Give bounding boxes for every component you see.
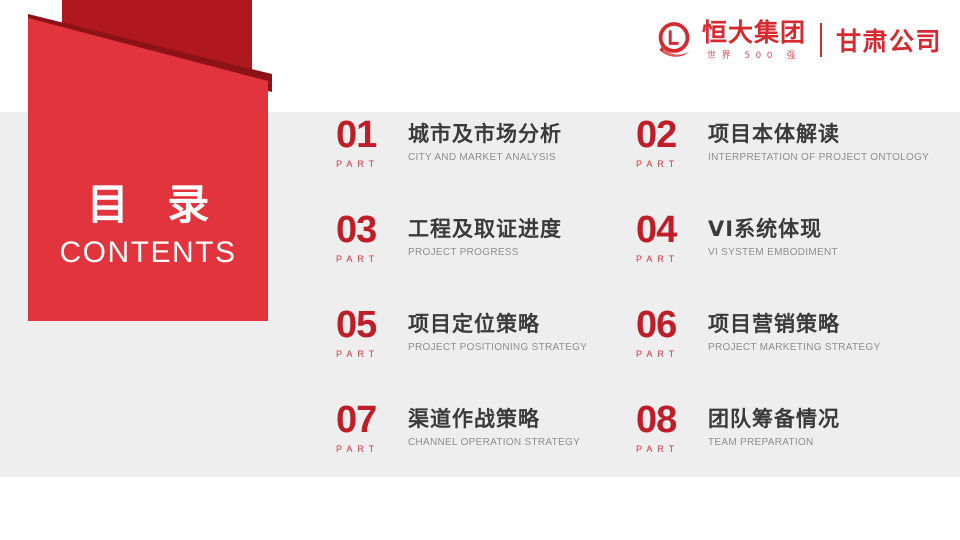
agenda-item-05[interactable]: 05 PART 项目定位策略 PROJECT POSITIONING STRAT… [336,310,636,405]
agenda-text-05: 项目定位策略 PROJECT POSITIONING STRATEGY [408,310,587,353]
agenda-text-07: 渠道作战策略 CHANNEL OPERATION STRATEGY [408,405,580,448]
branch-name-cn: 甘肃公司 [836,22,942,58]
agenda-number: 06 [636,306,708,344]
evergrande-q-logo-icon [653,19,695,61]
agenda-part-label: PART [636,444,708,454]
agenda-title-en: CITY AND MARKET ANALYSIS [408,152,562,163]
agenda-title-cn: 项目本体解读 [708,122,929,146]
agenda-part-label: PART [336,349,408,359]
agenda-text-06: 项目营销策略 PROJECT MARKETING STRATEGY [708,310,880,353]
agenda-item-07[interactable]: 07 PART 渠道作战策略 CHANNEL OPERATION STRATEG… [336,405,636,500]
agenda-title-cn: 项目营销策略 [708,312,880,336]
agenda-number: 02 [636,116,708,154]
agenda-index-08: 08 PART [636,401,708,454]
agenda-title-en: PROJECT PROGRESS [408,247,562,258]
agenda-part-label: PART [636,254,708,264]
agenda-item-06[interactable]: 06 PART 项目营销策略 PROJECT MARKETING STRATEG… [636,310,946,405]
agenda-index-06: 06 PART [636,306,708,359]
agenda-item-04[interactable]: 04 PART VI系统体现 VI SYSTEM EMBODIMENT [636,215,946,310]
slide-canvas: 目 录 CONTENTS 恒大集团 世界 500 强 甘肃公司 01 PART … [0,0,960,540]
logo-divider [820,23,822,57]
agenda-index-01: 01 PART [336,116,408,169]
agenda-title-en: INTERPRETATION OF PROJECT ONTOLOGY [708,152,929,163]
agenda-text-01: 城市及市场分析 CITY AND MARKET ANALYSIS [408,120,562,163]
agenda-number: 04 [636,211,708,249]
agenda-title-en: PROJECT MARKETING STRATEGY [708,342,880,353]
agenda-part-label: PART [636,349,708,359]
agenda-item-02[interactable]: 02 PART 项目本体解读 INTERPRETATION OF PROJECT… [636,120,946,215]
agenda-text-04: VI系统体现 VI SYSTEM EMBODIMENT [708,215,838,258]
agenda-title-cn: VI系统体现 [708,217,838,241]
agenda-item-01[interactable]: 01 PART 城市及市场分析 CITY AND MARKET ANALYSIS [336,120,636,215]
agenda-grid: 01 PART 城市及市场分析 CITY AND MARKET ANALYSIS… [336,120,946,500]
agenda-title-en: PROJECT POSITIONING STRATEGY [408,342,587,353]
agenda-text-08: 团队筹备情况 TEAM PREPARATION [708,405,840,448]
agenda-part-label: PART [336,254,408,264]
agenda-part-label: PART [336,159,408,169]
agenda-number: 03 [336,211,408,249]
header-logo-bar: 恒大集团 世界 500 强 甘肃公司 [653,16,942,64]
agenda-number: 08 [636,401,708,439]
agenda-text-02: 项目本体解读 INTERPRETATION OF PROJECT ONTOLOG… [708,120,929,163]
agenda-item-03[interactable]: 03 PART 工程及取证进度 PROJECT PROGRESS [336,215,636,310]
agenda-index-07: 07 PART [336,401,408,454]
agenda-title-cn: 工程及取证进度 [408,217,562,241]
agenda-title-en: TEAM PREPARATION [708,437,840,448]
agenda-index-05: 05 PART [336,306,408,359]
agenda-number: 01 [336,116,408,154]
agenda-part-label: PART [636,159,708,169]
agenda-item-08[interactable]: 08 PART 团队筹备情况 TEAM PREPARATION [636,405,946,500]
agenda-title-cn: 城市及市场分析 [408,122,562,146]
company-tagline: 世界 500 强 [702,48,806,61]
agenda-index-03: 03 PART [336,211,408,264]
logo-wordmark: 恒大集团 世界 500 强 [702,20,806,61]
agenda-title-en: CHANNEL OPERATION STRATEGY [408,437,580,448]
agenda-text-03: 工程及取证进度 PROJECT PROGRESS [408,215,562,258]
agenda-title-en: VI SYSTEM EMBODIMENT [708,247,838,258]
agenda-title-cn: 团队筹备情况 [708,407,840,431]
company-name-cn: 恒大集团 [702,20,806,46]
agenda-title-cn: 项目定位策略 [408,312,587,336]
agenda-number: 07 [336,401,408,439]
agenda-index-04: 04 PART [636,211,708,264]
agenda-part-label: PART [336,444,408,454]
agenda-number: 05 [336,306,408,344]
agenda-title-cn: 渠道作战策略 [408,407,580,431]
agenda-index-02: 02 PART [636,116,708,169]
